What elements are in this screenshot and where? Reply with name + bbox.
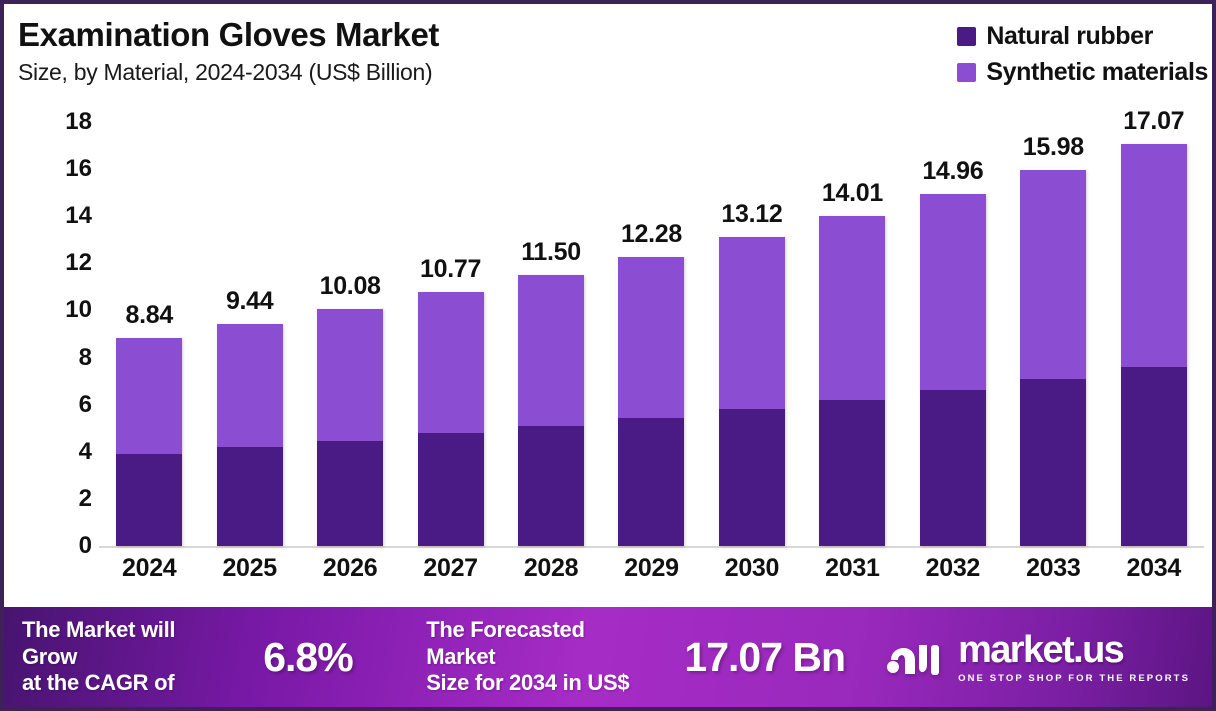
bar-stack[interactable] (1020, 170, 1086, 546)
x-axis-tick-label: 2029 (606, 554, 696, 583)
bar-column[interactable]: 15.98 (1008, 122, 1098, 546)
bar-value-label: 8.84 (125, 301, 172, 330)
page-title: Examination Gloves Market (18, 16, 439, 54)
bar-value-label: 10.77 (420, 255, 481, 284)
legend-item[interactable]: Synthetic materials (957, 58, 1208, 87)
y-axis-tick-label: 10 (65, 298, 92, 322)
bar-value-label: 14.01 (822, 179, 883, 208)
bar-stack[interactable] (719, 237, 785, 546)
bar-segment-synthetic-materials[interactable] (618, 257, 684, 418)
bar-segment-natural-rubber[interactable] (317, 441, 383, 546)
x-axis-tick-label: 2026 (305, 554, 395, 583)
y-axis-tick-label: 16 (65, 157, 92, 181)
bar-value-label: 13.12 (721, 200, 782, 229)
bar-segment-synthetic-materials[interactable] (1020, 170, 1086, 379)
x-axis-tick-label: 2024 (104, 554, 194, 583)
x-axis-tick-label: 2025 (205, 554, 295, 583)
chart-header: Examination Gloves Market Size, by Mater… (4, 4, 1212, 108)
x-axis-tick-label: 2032 (908, 554, 998, 583)
page-subtitle: Size, by Material, 2024-2034 (US$ Billio… (18, 59, 439, 86)
bar-column[interactable]: 10.77 (406, 122, 496, 546)
x-axis: 2024202520262027202820292030203120322033… (99, 554, 1204, 594)
bar-value-label: 10.08 (320, 272, 381, 301)
bar-stack[interactable] (217, 324, 283, 546)
forecast-caption: The Forecasted Market Size for 2034 in U… (426, 617, 632, 697)
legend-item[interactable]: Natural rubber (957, 22, 1153, 51)
bar-segment-synthetic-materials[interactable] (920, 194, 986, 390)
bar-segment-natural-rubber[interactable] (518, 426, 584, 546)
bar-value-label: 17.07 (1123, 107, 1184, 136)
bar-segment-natural-rubber[interactable] (719, 409, 785, 546)
bar-stack[interactable] (518, 275, 584, 546)
chart-plot-area: 024681012141618 8.849.4410.0810.7711.501… (4, 108, 1212, 605)
bar-column[interactable]: 14.01 (807, 122, 897, 546)
legend-item-label: Synthetic materials (986, 58, 1208, 87)
bar-segment-synthetic-materials[interactable] (719, 237, 785, 409)
bar-segment-synthetic-materials[interactable] (317, 309, 383, 441)
bar-segment-natural-rubber[interactable] (819, 400, 885, 547)
bar-column[interactable]: 14.96 (908, 122, 998, 546)
bar-value-label: 12.28 (621, 220, 682, 249)
bar-stack[interactable] (819, 216, 885, 546)
legend-item-label: Natural rubber (986, 22, 1153, 51)
market-us-logo[interactable]: market.us ONE STOP SHOP FOR THE REPORTS (885, 631, 1196, 684)
x-axis-tick-label: 2030 (707, 554, 797, 583)
bar-stack[interactable] (317, 309, 383, 546)
y-axis-tick-label: 12 (65, 251, 92, 275)
y-axis-tick-label: 18 (65, 110, 92, 134)
bar-segment-natural-rubber[interactable] (1121, 367, 1187, 546)
forecast-value: 17.07 Bn (684, 634, 845, 681)
x-axis-line (99, 546, 1204, 548)
bar-segment-synthetic-materials[interactable] (819, 216, 885, 399)
legend-swatch-natural-rubber (957, 27, 976, 46)
infographic-root: Examination Gloves Market Size, by Mater… (0, 0, 1216, 711)
y-axis-tick-label: 0 (79, 534, 92, 558)
y-axis-tick-label: 14 (65, 204, 92, 228)
bar-segment-synthetic-materials[interactable] (217, 324, 283, 448)
y-axis: 024681012141618 (40, 122, 92, 546)
bar-value-label: 9.44 (226, 287, 273, 316)
bar-segment-natural-rubber[interactable] (418, 433, 484, 546)
bar-segment-synthetic-materials[interactable] (418, 292, 484, 433)
bar-segment-natural-rubber[interactable] (618, 418, 684, 546)
bar-segment-synthetic-materials[interactable] (1121, 144, 1187, 368)
bar-column[interactable]: 11.50 (506, 122, 596, 546)
bar-segment-natural-rubber[interactable] (1020, 379, 1086, 546)
legend-swatch-synthetic-materials (957, 63, 976, 82)
bar-column[interactable]: 10.08 (305, 122, 395, 546)
title-block: Examination Gloves Market Size, by Mater… (18, 16, 439, 86)
bar-value-label: 11.50 (521, 238, 581, 267)
bar-segment-synthetic-materials[interactable] (518, 275, 584, 426)
chart-legend: Natural rubberSynthetic materials (957, 22, 1208, 87)
x-axis-tick-label: 2034 (1109, 554, 1199, 583)
footer-banner: The Market will Grow at the CAGR of 6.8%… (4, 607, 1212, 707)
bar-segment-natural-rubber[interactable] (116, 454, 182, 546)
logo-tagline: ONE STOP SHOP FOR THE REPORTS (958, 673, 1190, 684)
y-axis-tick-label: 2 (79, 487, 92, 511)
x-axis-tick-label: 2031 (807, 554, 897, 583)
x-axis-tick-label: 2033 (1008, 554, 1098, 583)
market-us-logo-text: market.us ONE STOP SHOP FOR THE REPORTS (958, 631, 1190, 684)
bar-column[interactable]: 12.28 (606, 122, 696, 546)
market-us-logo-mark-icon (885, 633, 947, 682)
bar-segment-synthetic-materials[interactable] (116, 338, 182, 454)
bar-segment-natural-rubber[interactable] (920, 390, 986, 546)
bar-value-label: 15.98 (1023, 133, 1084, 162)
bar-group: 8.849.4410.0810.7711.5012.2813.1214.0114… (99, 122, 1204, 546)
x-axis-tick-label: 2028 (506, 554, 596, 583)
bar-stack[interactable] (618, 257, 684, 546)
bar-stack[interactable] (116, 338, 182, 546)
bar-column[interactable]: 13.12 (707, 122, 797, 546)
bar-column[interactable]: 9.44 (205, 122, 295, 546)
y-axis-tick-label: 6 (79, 393, 92, 417)
cagr-value: 6.8% (263, 634, 352, 681)
x-axis-tick-label: 2027 (406, 554, 496, 583)
bar-stack[interactable] (1121, 144, 1187, 546)
y-axis-tick-label: 8 (79, 346, 92, 370)
bar-segment-natural-rubber[interactable] (217, 447, 283, 546)
bar-stack[interactable] (920, 194, 986, 546)
bar-column[interactable]: 8.84 (104, 122, 194, 546)
logo-name: market.us (958, 631, 1123, 669)
bar-column[interactable]: 17.07 (1109, 122, 1199, 546)
bar-stack[interactable] (418, 292, 484, 546)
bar-value-label: 14.96 (922, 157, 983, 186)
y-axis-tick-label: 4 (79, 440, 92, 464)
cagr-caption: The Market will Grow at the CAGR of (22, 617, 211, 697)
